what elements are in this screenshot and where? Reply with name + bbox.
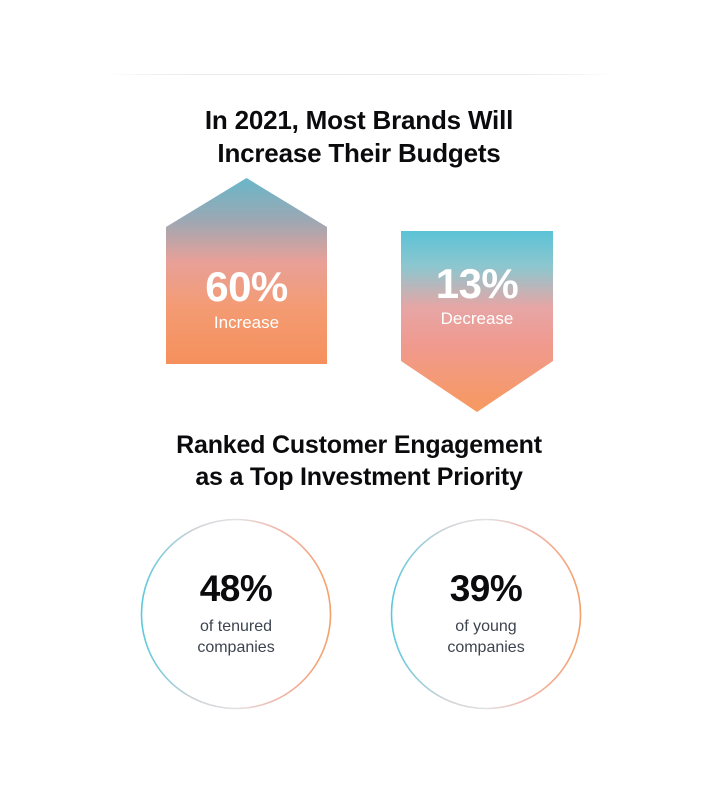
infographic-page: In 2021, Most Brands Will Increase Their…: [0, 0, 718, 810]
badge-decrease-value: 13%: [401, 263, 553, 305]
stat-circle-young-content: 39% of young companies: [390, 518, 582, 710]
page-title-line-1: In 2021, Most Brands Will: [0, 104, 718, 137]
stat-circle-young-caption-line-1: of young: [447, 616, 524, 637]
stat-circle-young-value: 39%: [450, 570, 523, 609]
page-title-line-2: Increase Their Budgets: [0, 137, 718, 170]
stat-circle-tenured-caption-line-1: of tenured: [197, 616, 274, 637]
stat-circle-tenured-value: 48%: [200, 570, 273, 609]
badge-increase-caption: Increase: [166, 314, 327, 331]
section-engagement-title-line-1: Ranked Customer Engagement: [0, 430, 718, 462]
badge-increase-value: 60%: [166, 266, 327, 308]
badge-increase: 60% Increase: [166, 178, 327, 364]
stat-circle-young-caption-line-2: companies: [447, 637, 524, 658]
section-engagement-title: Ranked Customer Engagement as a Top Inve…: [0, 430, 718, 493]
section-engagement-title-line-2: as a Top Investment Priority: [0, 462, 718, 494]
circle-group: 48% of tenured companies: [0, 515, 718, 715]
stat-circle-young: 39% of young companies: [390, 518, 582, 710]
stat-circle-young-caption: of young companies: [447, 616, 524, 658]
page-title: In 2021, Most Brands Will Increase Their…: [0, 104, 718, 170]
badge-decrease-caption: Decrease: [401, 310, 553, 327]
badge-decrease: 13% Decrease: [401, 231, 553, 412]
badge-group: 60% Increase 13% Decrease: [0, 175, 718, 420]
top-divider: [105, 74, 615, 75]
stat-circle-tenured: 48% of tenured companies: [140, 518, 332, 710]
stat-circle-tenured-caption-line-2: companies: [197, 637, 274, 658]
stat-circle-tenured-caption: of tenured companies: [197, 616, 274, 658]
stat-circle-tenured-content: 48% of tenured companies: [140, 518, 332, 710]
